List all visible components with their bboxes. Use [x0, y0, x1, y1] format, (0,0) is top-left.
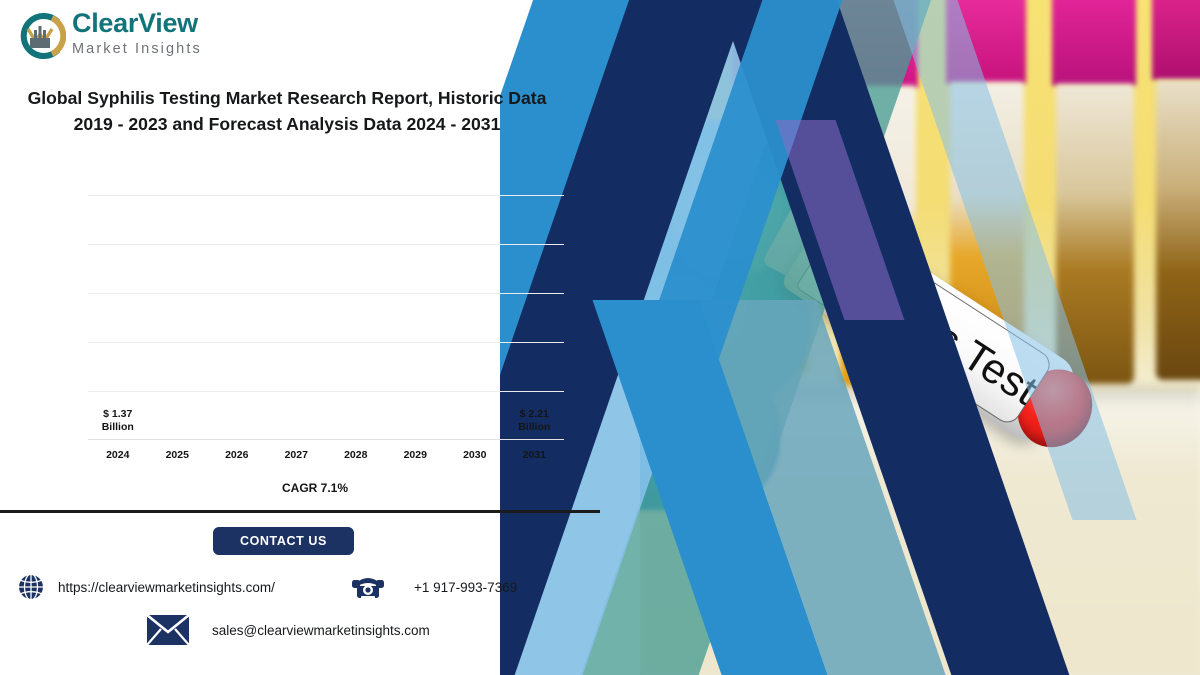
- artwork-panel: Syphilis Test: [500, 0, 1200, 675]
- website-row[interactable]: https://clearviewmarketinsights.com/: [16, 572, 275, 602]
- globe-icon: [16, 572, 46, 602]
- report-infographic: Syphilis Test: [0, 0, 1200, 675]
- back-tube-body: [1156, 80, 1200, 380]
- market-size-bar-chart: $ 1.37Billion$ 2.21Billion 2024202520262…: [60, 155, 570, 495]
- x-axis-tick: 2024: [88, 449, 148, 461]
- bar-value-label: $ 2.21Billion: [518, 408, 550, 434]
- x-axis-labels: 20242025202620272028202920302031: [88, 449, 564, 461]
- email-row[interactable]: sales@clearviewmarketinsights.com: [146, 614, 430, 646]
- x-axis-tick: 2029: [386, 449, 446, 461]
- website-link[interactable]: https://clearviewmarketinsights.com/: [58, 580, 275, 595]
- email-address[interactable]: sales@clearviewmarketinsights.com: [212, 623, 430, 638]
- x-axis-tick: 2025: [148, 449, 208, 461]
- page-title: Global Syphilis Testing Market Research …: [14, 86, 560, 137]
- brand-logo[interactable]: ClearView Market Insights: [14, 8, 214, 64]
- x-axis-tick: 2028: [326, 449, 386, 461]
- back-tube-cap: [1152, 0, 1200, 80]
- chart-plot-area: $ 1.37Billion$ 2.21Billion: [88, 195, 564, 440]
- x-axis-tick: 2027: [267, 449, 327, 461]
- back-tube-cap: [1052, 0, 1136, 86]
- brand-wordmark: ClearView Market Insights: [72, 10, 202, 57]
- telephone-icon: [350, 572, 386, 602]
- clearview-circle-monogram-icon: [14, 10, 66, 62]
- x-axis-tick: 2026: [207, 449, 267, 461]
- phone-number[interactable]: +1 917-993-7369: [414, 580, 517, 595]
- x-axis-tick: 2030: [445, 449, 505, 461]
- brand-name-primary: ClearView: [72, 10, 202, 37]
- bar-series: $ 1.37Billion$ 2.21Billion: [88, 195, 564, 440]
- bar-value-label: $ 1.37Billion: [102, 408, 134, 434]
- contact-us-button[interactable]: CONTACT US: [213, 527, 354, 555]
- x-axis-tick: 2031: [505, 449, 565, 461]
- phone-row[interactable]: +1 917-993-7369: [350, 572, 517, 602]
- envelope-icon: [146, 614, 190, 646]
- brand-name-secondary: Market Insights: [72, 42, 202, 57]
- section-divider: [0, 510, 600, 513]
- cagr-label: CAGR 7.1%: [60, 481, 570, 495]
